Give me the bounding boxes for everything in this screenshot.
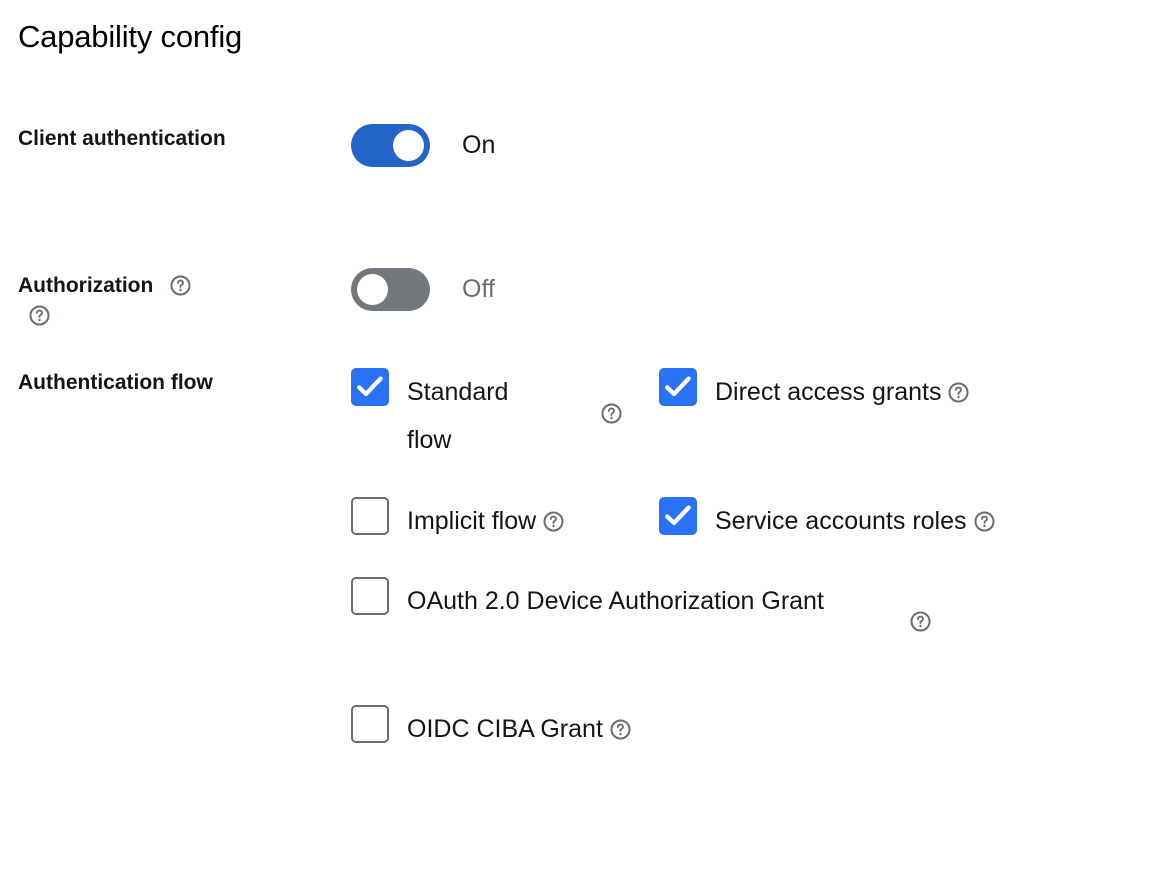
authorization-toggle[interactable] — [351, 268, 430, 311]
help-circle-icon[interactable] — [974, 511, 995, 532]
authorization-label-text: Authorization — [18, 274, 153, 297]
checkbox-item-service-accounts-roles[interactable]: Service accounts roles — [659, 497, 995, 545]
checkbox-label-oidc-ciba-grant: OIDC CIBA Grant — [407, 705, 631, 753]
checkbox-oidc-ciba-grant[interactable] — [351, 705, 389, 743]
help-circle-icon[interactable] — [601, 403, 622, 424]
toggle-knob — [393, 130, 424, 161]
help-circle-icon[interactable] — [543, 511, 564, 532]
checkbox-implicit-flow[interactable] — [351, 497, 389, 535]
checkbox-label-direct-access-grants: Direct access grants — [715, 368, 969, 416]
capability-config-page: Capability config Client authentication … — [0, 0, 1166, 878]
checkbox-item-standard-flow[interactable]: Standard flow — [351, 368, 552, 464]
checkbox-label-standard-flow: Standard flow — [407, 368, 552, 464]
client-authentication-value: On — [462, 133, 495, 158]
checkbox-label-text: Standard flow — [407, 368, 552, 464]
client-authentication-toggle-row: On — [351, 124, 495, 167]
help-circle-icon[interactable] — [610, 719, 631, 740]
page-title: Capability config — [18, 18, 242, 55]
checkbox-item-implicit-flow[interactable]: Implicit flow — [351, 497, 564, 545]
checkbox-label-implicit-flow: Implicit flow — [407, 497, 564, 545]
checkbox-label-text: OAuth 2.0 Device Authorization Grant — [407, 577, 867, 625]
client-authentication-label: Client authentication — [18, 124, 328, 154]
checkbox-item-oauth-device-authorization-grant[interactable]: OAuth 2.0 Device Authorization Grant — [351, 577, 867, 625]
help-circle-icon[interactable] — [170, 275, 191, 296]
authorization-toggle-row: Off — [351, 268, 495, 311]
checkbox-label-oauth-device-authorization-grant: OAuth 2.0 Device Authorization Grant — [407, 577, 867, 625]
checkbox-label-text: Implicit flow — [407, 497, 536, 545]
help-circle-icon[interactable] — [948, 382, 969, 403]
checkbox-label-service-accounts-roles: Service accounts roles — [715, 497, 995, 545]
checkbox-label-text: Direct access grants — [715, 368, 941, 416]
client-authentication-toggle[interactable] — [351, 124, 430, 167]
checkbox-service-accounts-roles[interactable] — [659, 497, 697, 535]
checkbox-item-oidc-ciba-grant[interactable]: OIDC CIBA Grant — [351, 705, 631, 753]
authorization-label: Authorization — [18, 271, 328, 301]
authentication-flow-label-text: Authentication flow — [18, 371, 213, 394]
client-authentication-label-text: Client authentication — [18, 127, 226, 150]
help-circle-icon[interactable] — [910, 611, 931, 632]
help-circle-icon[interactable] — [29, 305, 50, 326]
checkbox-label-text: OIDC CIBA Grant — [407, 705, 603, 753]
toggle-knob — [357, 274, 388, 305]
authentication-flow-label: Authentication flow — [18, 368, 328, 398]
checkbox-standard-flow[interactable] — [351, 368, 389, 406]
checkbox-label-text: Service accounts roles — [715, 497, 967, 545]
checkbox-oauth-device-authorization-grant[interactable] — [351, 577, 389, 615]
checkbox-item-direct-access-grants[interactable]: Direct access grants — [659, 368, 969, 416]
authorization-value: Off — [462, 277, 495, 302]
checkbox-direct-access-grants[interactable] — [659, 368, 697, 406]
